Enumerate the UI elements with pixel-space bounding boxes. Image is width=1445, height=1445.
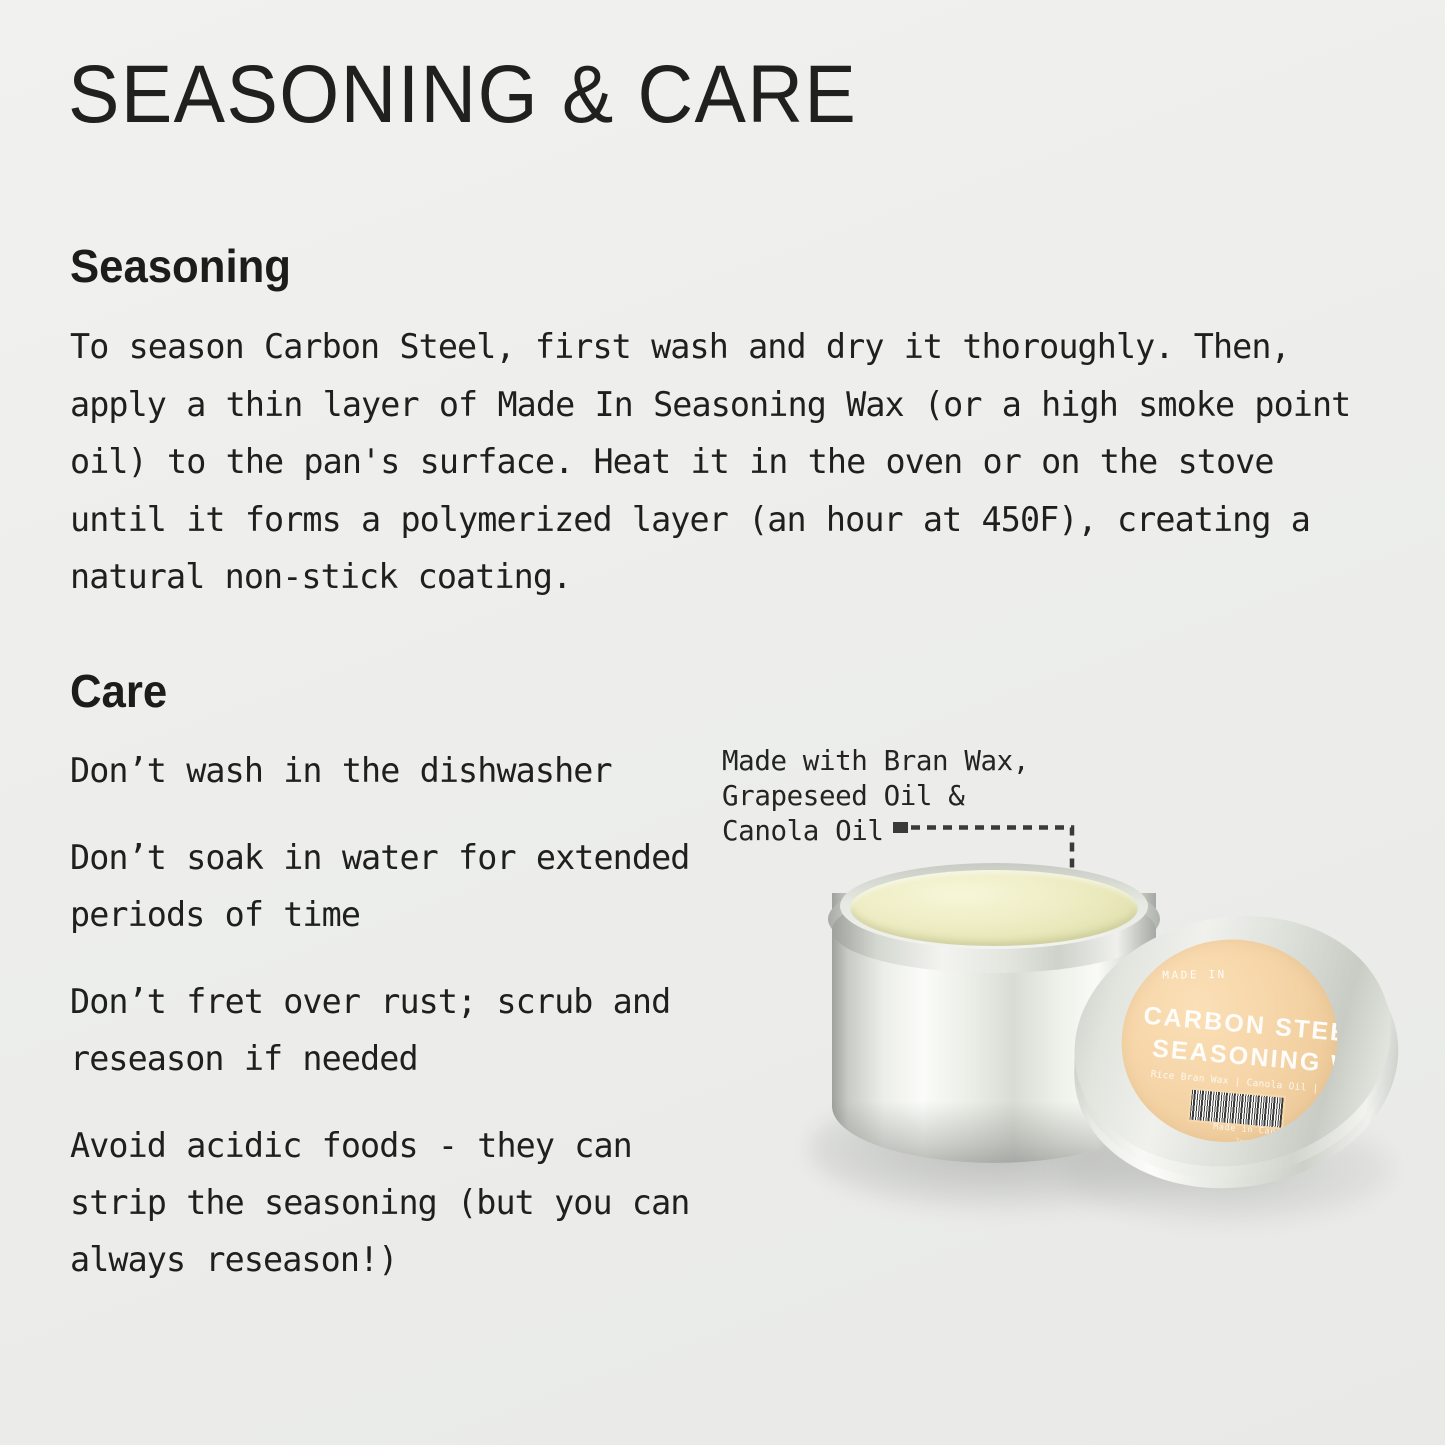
care-list-item: Don’t wash in the dishwasher [70,742,730,799]
care-list-item: Avoid acidic foods - they can strip the … [70,1117,730,1288]
product-photo-seasoning-wax-tin: MADE IN CARBON STEEL SEASONING WAX Rice … [770,815,1410,1245]
lid-label-content: MADE IN CARBON STEEL SEASONING WAX Rice … [1120,938,1339,1144]
lid-label: MADE IN CARBON STEEL SEASONING WAX Rice … [1106,923,1354,1159]
section-heading-seasoning: Seasoning [70,239,291,293]
care-list-item: Don’t fret over rust; scrub and reseason… [70,973,730,1087]
page-title: SEASONING & CARE [68,52,857,138]
care-list: Don’t wash in the dishwasher Don’t soak … [70,742,730,1288]
seasoning-care-page: SEASONING & CARE Seasoning To season Car… [0,0,1445,1445]
section-heading-care: Care [70,664,167,718]
label-brand-text: MADE IN [1162,968,1227,982]
tin-lid: MADE IN CARBON STEEL SEASONING WAX Rice … [1048,885,1423,1226]
care-list-item: Don’t soak in water for extended periods… [70,829,730,943]
seasoning-body-text: To season Carbon Steel, first wash and d… [70,318,1380,606]
